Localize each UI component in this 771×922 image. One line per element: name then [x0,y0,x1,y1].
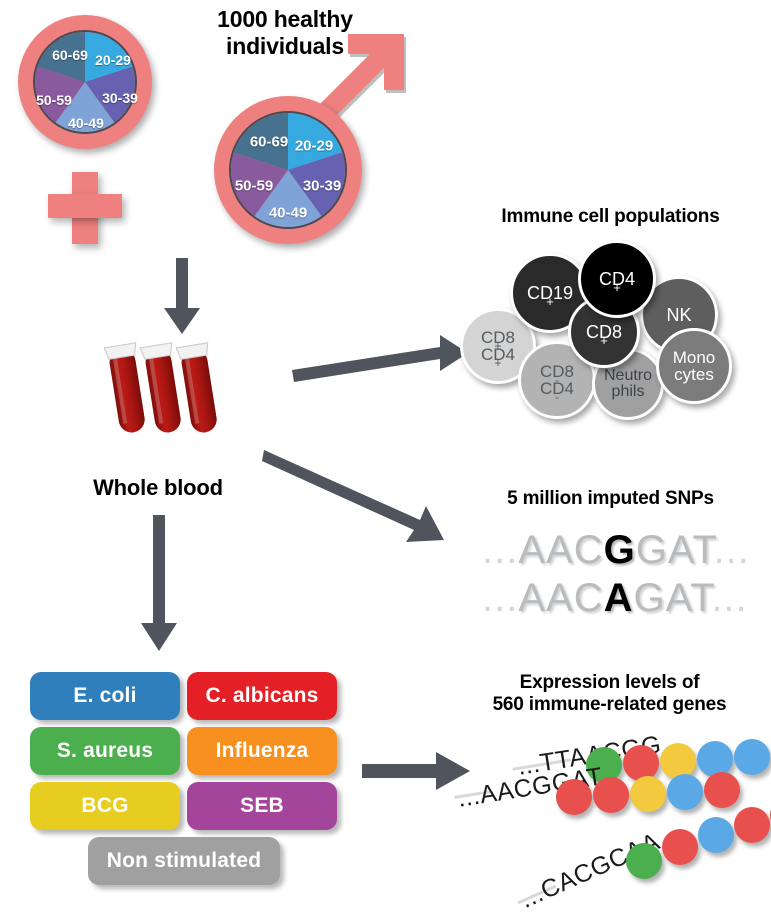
bead-2-5 [704,772,740,808]
stimulus-bcg[interactable]: BCG [30,782,180,830]
bead-1-2 [623,745,659,781]
cell-label: CD8+ [586,323,622,341]
cell-label-line2: cytes [673,366,716,383]
arrow-cohort-to-blood [158,258,208,338]
female-label-20-29: 20-29 [95,52,131,68]
female-label-30-39: 30-39 [102,90,138,106]
bead-1-4 [697,741,733,777]
bead-3-4 [734,807,770,843]
snp-prefix-dots: ... [482,576,518,620]
bead-3-2 [662,829,698,865]
male-label-40-49: 40-49 [269,205,307,222]
whole-blood-label: Whole blood [58,475,258,501]
section-title-expression: Expression levels of 560 immune-related … [448,672,771,717]
arrow-blood-to-stimuli [135,515,185,655]
snp-prefix-dots: ... [482,528,518,572]
cell-label: CD4+ [599,270,635,288]
cell-label-line2: CD4- [540,380,574,397]
snp-variant-base: G [604,528,636,572]
male-label-20-29: 20-29 [295,138,333,155]
bead-3-1 [626,843,662,879]
bead-2-1 [556,779,592,815]
figure-canvas: 1000 healthy individuals 20-29 30-39 40-… [0,0,771,922]
snp-right-bases: GAT [636,528,714,572]
cell-label-line2: CD4+ [481,346,515,363]
snp-left-bases: AAC [518,528,603,572]
section-title-immune-cells: Immune cell populations [450,206,771,228]
arrow-right-up-icon [290,330,470,385]
male-label-30-39: 30-39 [303,178,341,195]
blood-tubes-icon [100,335,230,450]
arrow-down-icon [135,515,185,655]
male-label-60-69: 60-69 [250,134,288,151]
cell-label-line1: CD8+ [481,329,515,346]
cell-label: NK [666,306,691,324]
cell-label-line1: CD8- [540,363,574,380]
immune-cell-cluster: CD8+ CD4+ CD19+ CD4+ NK CD8+ CD8- CD4- N… [450,238,771,423]
snp-variant-base: A [604,576,634,620]
stimulus-s-aureus[interactable]: S. aureus [30,727,180,775]
snp-sequence-block: ...AACGGAT... ...AACAGAT... [470,528,760,618]
expression-title-line1: Expression levels of [448,672,771,694]
female-stem-cross [48,194,122,218]
cell-label: CD19+ [527,284,573,302]
bead-1-3 [660,743,696,779]
bead-1-5 [734,739,770,775]
arrow-down-icon [158,258,208,338]
cell-label-line1: Neutro [604,368,652,384]
arrow-blood-to-snps [262,448,462,548]
bead-2-2 [593,777,629,813]
stimulus-c-albicans[interactable]: C. albicans [187,672,337,720]
snp-row-allele-2: ...AACAGAT... [482,576,748,621]
cell-monocytes: Mono cytes [656,328,732,404]
stimulus-e-coli[interactable]: E. coli [30,672,180,720]
cell-label-line1: Mono [673,349,716,366]
snp-suffix-dots: ... [714,528,750,572]
snp-suffix-dots: ... [711,576,747,620]
snp-row-allele-1: ...AACGGAT... [482,528,750,573]
bead-2-4 [667,774,703,810]
section-title-snps: 5 million imputed SNPs [450,488,771,510]
cell-label-line2: phils [604,384,652,400]
stimuli-panel: E. coli C. albicans S. aureus Influenza … [30,672,350,892]
snp-left-bases: AAC [518,576,603,620]
female-label-40-49: 40-49 [68,115,104,131]
male-arrow-shape [318,34,404,120]
stimulus-influenza[interactable]: Influenza [187,727,337,775]
arrow-right-down-icon [262,448,462,548]
expression-title-line2: 560 immune-related genes [448,694,771,716]
blood-tubes-svg [100,335,230,450]
expression-strands: ...TTAACGG ...AACGGAT ...CACGCAA [440,735,771,915]
bead-3-3 [698,817,734,853]
snp-right-bases: GAT [633,576,711,620]
cell-cd4pos: CD4+ [578,240,656,318]
stimulus-seb[interactable]: SEB [187,782,337,830]
female-label-50-59: 50-59 [36,92,72,108]
stimulus-non-stimulated[interactable]: Non stimulated [88,837,280,885]
bead-2-3 [630,776,666,812]
arrow-blood-to-cells [290,330,470,385]
male-label-50-59: 50-59 [235,178,273,195]
female-label-60-69: 60-69 [52,47,88,63]
